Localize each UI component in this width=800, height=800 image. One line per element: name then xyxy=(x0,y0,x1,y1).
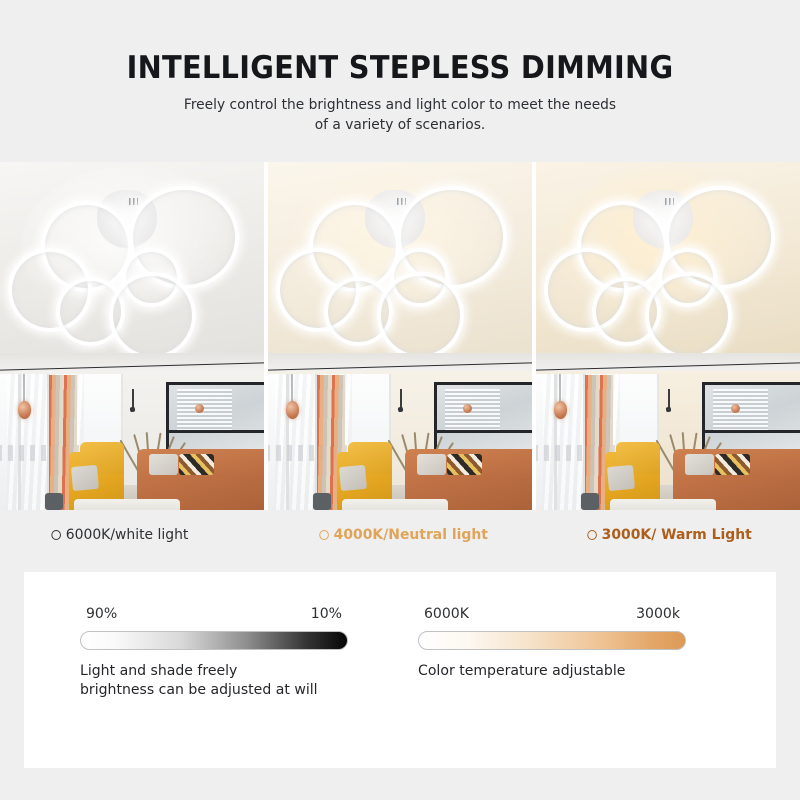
floor-rug xyxy=(610,499,716,510)
armchair-pillow xyxy=(339,465,367,492)
led-ring-6 xyxy=(109,272,196,360)
temperature-scale: 6000K 3000k xyxy=(422,606,682,622)
sofa-cushion-plain xyxy=(149,454,178,475)
pendant-cord xyxy=(23,374,24,404)
circle-outline-icon xyxy=(51,530,61,540)
side-stool xyxy=(45,493,63,510)
brightness-slider-block: 90% 10% Light and shade freely brightnes… xyxy=(80,606,348,700)
living-room xyxy=(536,371,800,510)
armchair-pillow xyxy=(607,465,635,492)
floor-rug xyxy=(342,499,448,510)
temperature-slider-block: 6000K 3000k Color temperature adjustable xyxy=(418,606,686,700)
led-ring-chandelier xyxy=(273,183,526,364)
caption-warm-light: 3000K/ Warm Light xyxy=(537,510,794,560)
brightness-min-label: 10% xyxy=(311,606,342,622)
lamp-mount-clip xyxy=(394,196,409,208)
wall-sconce xyxy=(400,389,402,408)
armchair-pillow xyxy=(71,465,99,492)
sofa-cushion-patterned xyxy=(447,454,482,475)
brightness-caption: Light and shade freely brightness can be… xyxy=(80,662,340,700)
page-title: INTELLIGENT STEPLESS DIMMING xyxy=(28,50,772,86)
temperature-caption: Color temperature adjustable xyxy=(418,662,678,681)
pendant-cord xyxy=(291,374,292,404)
wall-sconce xyxy=(668,389,670,408)
mirror-blinds xyxy=(177,389,232,429)
adjustment-card: 90% 10% Light and shade freely brightnes… xyxy=(24,572,776,768)
lamp-mount-clip xyxy=(126,196,141,208)
led-ring-chandelier xyxy=(541,183,794,364)
mirror-blinds xyxy=(713,389,768,429)
floor-rug xyxy=(74,499,180,510)
caption-warm-light-label: 3000K/ Warm Light xyxy=(602,527,752,543)
sofa-cushion-patterned xyxy=(179,454,214,475)
scene-caption-row: 6000K/white light 4000K/Neutral light 30… xyxy=(0,510,800,560)
page-subtitle: Freely control the brightness and light … xyxy=(177,96,624,135)
copper-pendant-lamp xyxy=(554,401,568,419)
caption-neutral-light: 4000K/Neutral light xyxy=(269,510,526,560)
mirror-pendant-reflection xyxy=(463,404,472,413)
sofa-cushion-patterned xyxy=(715,454,750,475)
window-mullion xyxy=(286,374,289,510)
scene-photo-warm-light[interactable] xyxy=(536,162,800,510)
adjustment-card-content: 90% 10% Light and shade freely brightnes… xyxy=(80,606,736,700)
caption-neutral-light-label: 4000K/Neutral light xyxy=(334,527,488,543)
lamp-mount-clip xyxy=(662,196,677,208)
scene-photo-white-light[interactable] xyxy=(0,162,264,510)
mirror-blinds xyxy=(445,389,500,429)
sofa-cushion-plain xyxy=(417,454,446,475)
caption-white-light-label: 6000K/white light xyxy=(66,527,189,543)
scene-photo-neutral-light[interactable] xyxy=(268,162,532,510)
mirror-pendant-reflection xyxy=(731,404,740,413)
wall-sconce xyxy=(132,389,134,408)
lighting-scene-gallery xyxy=(0,162,800,510)
led-ring-6 xyxy=(377,272,464,360)
brightness-slider[interactable] xyxy=(80,631,348,650)
brightness-scale: 90% 10% xyxy=(84,606,344,622)
copper-pendant-lamp xyxy=(286,401,300,419)
mirror-pendant-reflection xyxy=(195,404,204,413)
caption-white-light: 6000K/white light xyxy=(5,510,258,560)
header: INTELLIGENT STEPLESS DIMMING Freely cont… xyxy=(0,0,800,135)
window-mullion xyxy=(554,374,557,510)
pendant-cord xyxy=(559,374,560,404)
led-ring-6 xyxy=(645,272,732,360)
brightness-max-label: 90% xyxy=(86,606,117,622)
living-room xyxy=(268,371,532,510)
led-ring-chandelier xyxy=(5,183,258,364)
copper-pendant-lamp xyxy=(18,401,32,419)
window-mullion xyxy=(18,374,21,510)
temperature-warm-label: 3000k xyxy=(636,606,680,622)
side-stool xyxy=(581,493,599,510)
side-stool xyxy=(313,493,331,510)
living-room xyxy=(0,371,264,510)
temperature-slider[interactable] xyxy=(418,631,686,650)
sofa-cushion-plain xyxy=(685,454,714,475)
circle-outline-icon xyxy=(587,530,597,540)
temperature-cool-label: 6000K xyxy=(424,606,469,622)
circle-outline-icon xyxy=(319,530,329,540)
